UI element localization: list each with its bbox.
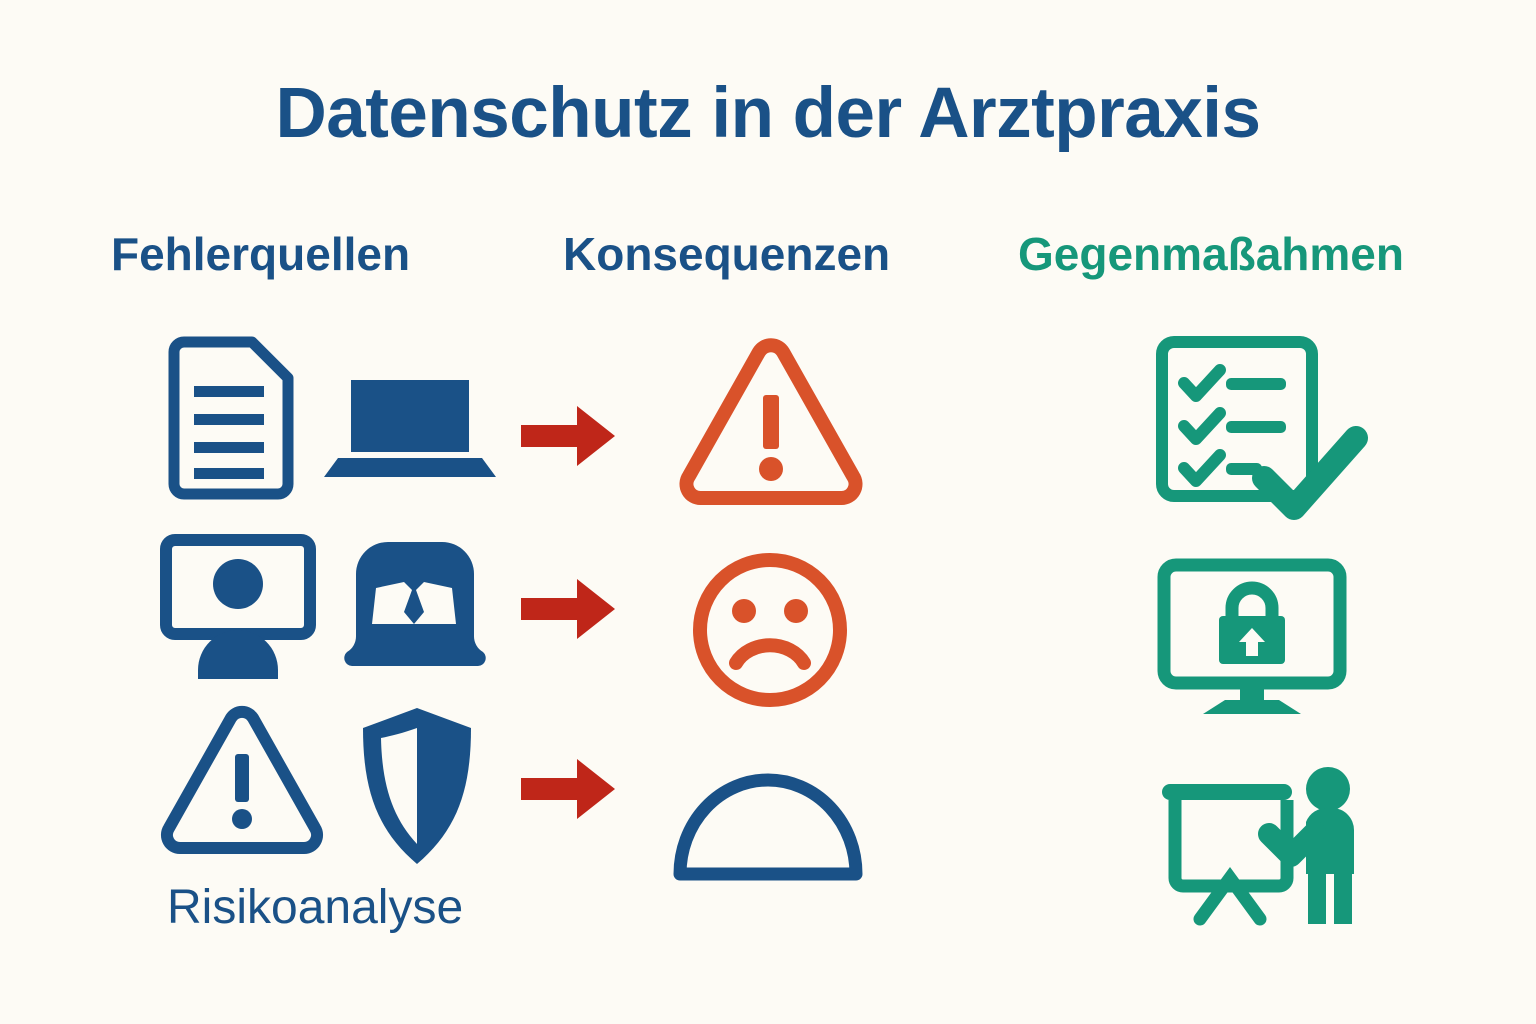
gegenmassahmen-row-3 [1156,762,1386,932]
warning-triangle-icon [167,712,317,848]
shield-icon [363,708,471,864]
konsequenzen-row-1 [676,340,866,510]
fehlerquellen-row-2 [160,536,500,686]
konsequenzen-row-3 [672,762,872,892]
training-board-person-icon [1162,767,1354,924]
arrow-row-1 [521,405,617,467]
fehlerquellen-row-1 [166,338,506,498]
fehlerquellen-row-3 [155,706,505,866]
risikoanalyse-label: Risikoanalyse [167,884,463,932]
checklist-icon [1162,342,1356,508]
person-on-monitor-icon [166,540,310,679]
dome-arch-icon [680,780,856,874]
konsequenzen-row-2 [686,550,856,710]
warning-triangle-icon [686,345,855,498]
gegenmassahmen-row-1 [1156,336,1376,516]
arrow-row-2 [521,578,617,640]
column-header-konsequenzen: Konsequenzen [563,231,890,277]
gegenmassahmen-row-2 [1157,560,1347,720]
infographic-canvas: Datenschutz in der Arztpraxis Fehlerquel… [0,0,1536,1024]
column-header-fehlerquellen: Fehlerquellen [111,231,410,277]
monitor-lock-icon [1164,565,1340,714]
page-title: Datenschutz in der Arztpraxis [0,78,1536,149]
open-book-shape-icon [344,542,485,666]
sad-face-icon [700,560,840,700]
arrow-row-3 [521,758,617,820]
laptop-icon [324,380,496,477]
document-icon [174,342,288,494]
column-header-gegenmassahmen: Gegenmaßahmen [1018,231,1404,277]
